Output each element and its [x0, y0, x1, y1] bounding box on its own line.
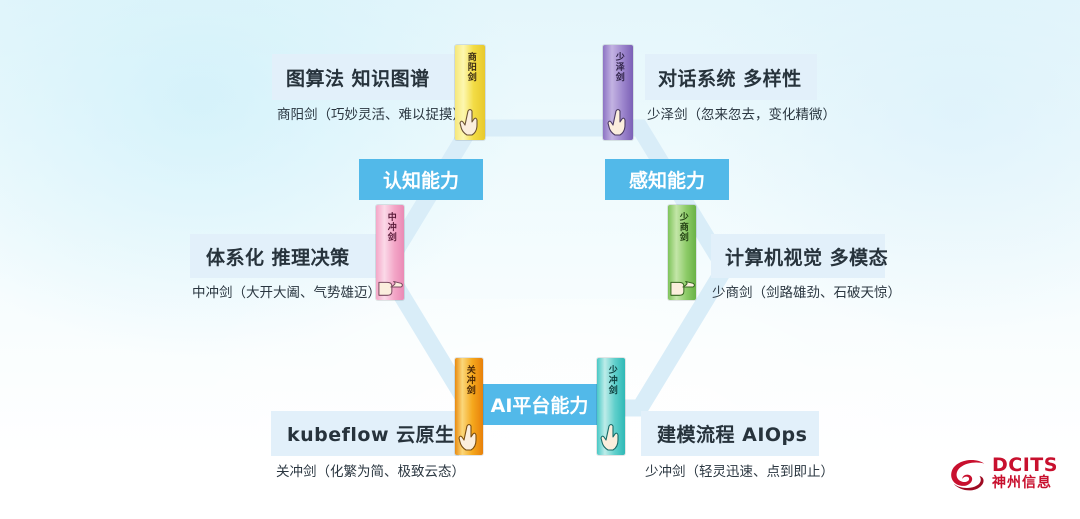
capability-label: AI平台能力: [491, 391, 589, 418]
capability-label: 感知能力: [629, 166, 705, 193]
sword-pillar-guanchongjian: 关冲剑: [455, 358, 483, 455]
node-subtitle-computer-vision: 少商剑（剑路雄劲、石破天惊）: [712, 281, 901, 301]
sword-pillar-shangyangjian: 商阳剑: [455, 45, 485, 140]
node-title-computer-vision: 计算机视觉 多模态: [725, 243, 888, 270]
node-title-strip-computer-vision: 计算机视觉 多模态: [711, 234, 885, 278]
node-title-strip-reasoning-decision: 体系化 推理决策: [190, 234, 378, 278]
sword-pillar-label: 中冲剑: [385, 212, 394, 242]
node-subtitle-modeling-aiops: 少冲剑（轻灵迅速、点到即止）: [645, 460, 834, 480]
sword-pillar-label: 少冲剑: [606, 365, 615, 395]
sword-pillar-zhongchongjian: 中冲剑: [376, 205, 404, 300]
sword-pillar-label: 商阳剑: [465, 52, 474, 82]
pointing-hand-icon: [457, 107, 483, 137]
capability-box-cognitive[interactable]: 认知能力: [359, 159, 483, 200]
thumbs-up-icon: [376, 275, 404, 299]
node-subtitle-dialog-system: 少泽剑（忽来忽去，变化精微）: [647, 103, 836, 123]
node-title-dialog-system: 对话系统 多样性: [658, 64, 802, 91]
dcits-swirl-icon: [946, 455, 990, 499]
pointing-hand-icon: [598, 422, 624, 452]
company-logo: DCITS 神州信息: [946, 451, 1066, 505]
logo-text: DCITS 神州信息: [992, 455, 1058, 492]
capability-label: 认知能力: [383, 166, 459, 193]
node-title-strip-dialog-system: 对话系统 多样性: [645, 54, 817, 100]
node-title-kubeflow-cloudnative: kubeflow 云原生: [287, 420, 455, 447]
sword-pillar-shaochongjian: 少冲剑: [597, 358, 625, 455]
node-title-knowledge-graph: 图算法 知识图谱: [286, 64, 430, 91]
capability-box-perceptive[interactable]: 感知能力: [605, 159, 729, 200]
node-title-strip-modeling-aiops: 建模流程 AIOps: [641, 411, 819, 456]
pointing-hand-icon: [605, 107, 631, 137]
sword-pillar-label: 少泽剑: [613, 52, 622, 82]
hexagon-connector-ring: [0, 0, 1080, 519]
sword-pillar-shaozejian: 少泽剑: [603, 45, 633, 140]
sword-pillar-label: 少商剑: [677, 212, 686, 242]
slide-canvas: 图算法 知识图谱 商阳剑（巧妙灵活、难以捉摸） 商阳剑 少泽剑 对话系统 多样性…: [0, 0, 1080, 519]
capability-box-platform[interactable]: AI平台能力: [478, 384, 601, 425]
node-title-reasoning-decision: 体系化 推理决策: [206, 243, 350, 270]
node-title-modeling-aiops: 建模流程 AIOps: [657, 420, 807, 447]
node-subtitle-reasoning-decision: 中冲剑（大开大阖、气势雄迈）: [192, 281, 381, 301]
sword-pillar-shaoshangjian: 少商剑: [668, 205, 696, 300]
node-title-strip-kubeflow-cloudnative: kubeflow 云原生: [271, 411, 459, 456]
node-subtitle-kubeflow-cloudnative: 关冲剑（化繁为简、极致云态）: [276, 460, 465, 480]
logo-brand-en: DCITS: [992, 455, 1058, 475]
logo-brand-cn: 神州信息: [992, 475, 1058, 492]
sword-pillar-label: 关冲剑: [464, 365, 473, 395]
node-subtitle-knowledge-graph: 商阳剑（巧妙灵活、难以捉摸）: [277, 103, 466, 123]
node-title-strip-knowledge-graph: 图算法 知识图谱: [272, 54, 475, 100]
thumbs-up-icon: [668, 275, 696, 299]
pointing-hand-icon: [456, 422, 482, 452]
